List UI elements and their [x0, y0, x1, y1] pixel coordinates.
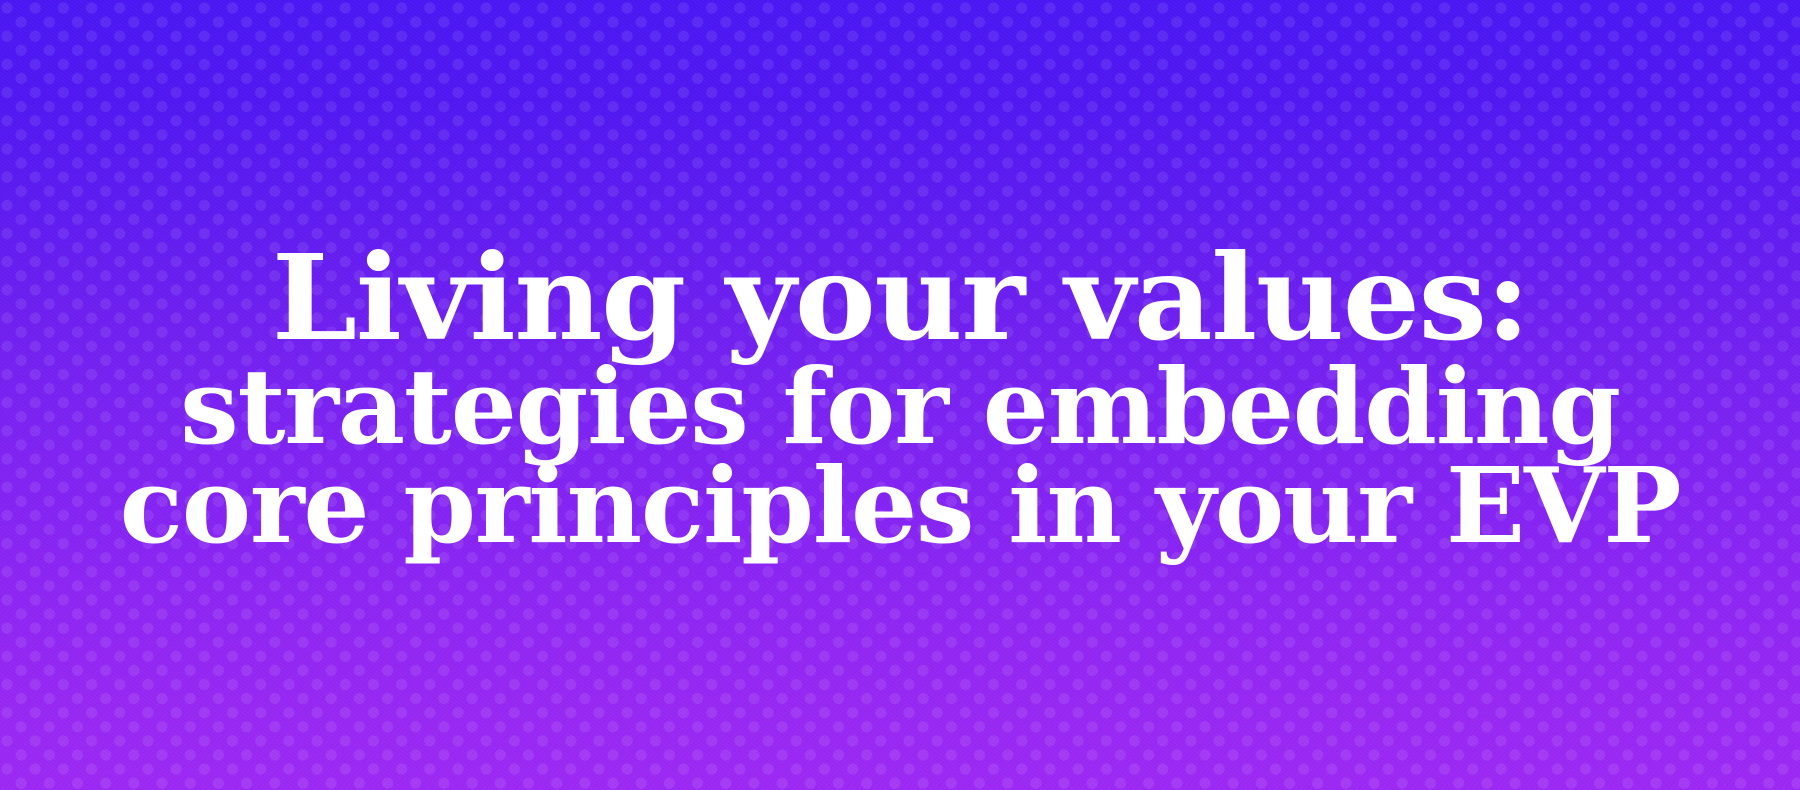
headline-block: Living your values: strategies for embed…	[0, 0, 1800, 790]
headline-line-1: Living your values:	[271, 243, 1528, 353]
headline-line-3: core principles in your EVP	[120, 458, 1681, 555]
hero-banner: Living your values: strategies for embed…	[0, 0, 1800, 790]
headline-line-2: strategies for embedding	[180, 359, 1620, 456]
